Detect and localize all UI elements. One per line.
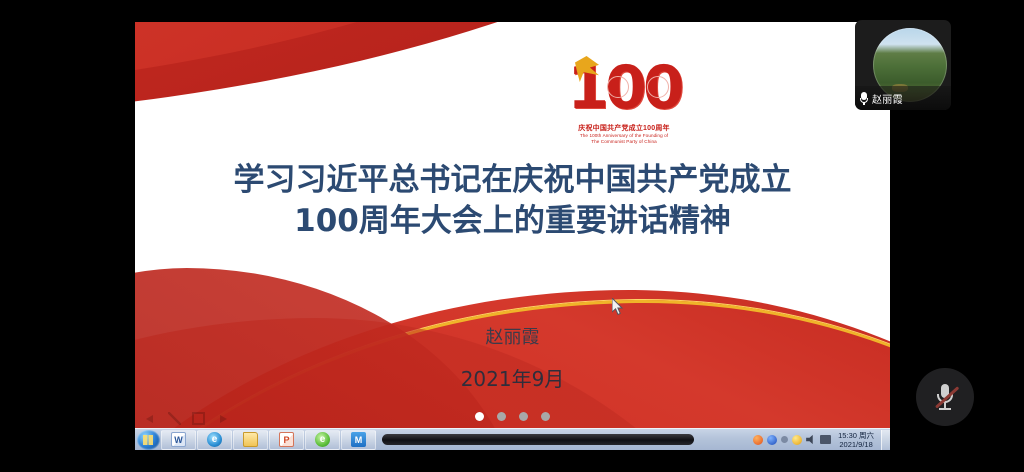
slide-title-line-2: 100周年大会上的重要讲话精神 (135, 201, 890, 242)
word-icon: W (171, 432, 186, 447)
slide-dot-4[interactable] (541, 412, 550, 421)
taskbar-item-powerpoint[interactable]: P (269, 430, 304, 450)
taskbar-item-file-explorer[interactable] (233, 430, 268, 450)
slide-dot-1[interactable] (475, 412, 484, 421)
slide-presenter-name: 赵丽霞 (135, 327, 890, 349)
logo-ring-1921-icon (607, 76, 629, 98)
network-icon[interactable] (820, 435, 831, 444)
participant-footer: 赵丽霞 (855, 86, 951, 110)
shared-screen-region[interactable]: 100 庆祝中国共产党成立100周年 The 100th Anniversary… (135, 22, 890, 450)
slide-dot-2[interactable] (497, 412, 506, 421)
logo-chinese-caption: 庆祝中国共产党成立100周年 (559, 124, 689, 133)
clock-date: 2021/9/18 (838, 440, 874, 449)
logo-mark: 100 (559, 52, 689, 124)
arrow-left-icon[interactable] (144, 412, 157, 425)
security-icon[interactable] (792, 435, 802, 445)
arrow-right-icon[interactable] (216, 412, 229, 425)
cpc-100-anniversary-logo: 100 庆祝中国共产党成立100周年 The 100th Anniversary… (559, 52, 689, 152)
mute-toggle-button[interactable] (916, 368, 974, 426)
presentation-slide[interactable]: 100 庆祝中国共产党成立100周年 The 100th Anniversary… (135, 22, 890, 442)
grid-icon[interactable] (192, 412, 205, 425)
conference-screen: 100 庆祝中国共产党成立100周年 The 100th Anniversary… (0, 0, 1024, 472)
windows-taskbar[interactable]: W e P e M (135, 428, 890, 450)
taskbar-clock[interactable]: 15:30 周六 2021/9/18 (835, 431, 877, 449)
powerpoint-icon: P (279, 432, 294, 447)
clock-time: 15:30 周六 (838, 431, 874, 440)
taskbar-item-browser-360[interactable]: e (305, 430, 340, 450)
start-button-icon[interactable] (137, 430, 160, 450)
browser-icon: e (315, 432, 330, 447)
logo-english-caption-line2: The Communist Party of China (559, 139, 689, 145)
slide-title-line-1: 学习习近平总书记在庆祝中国共产党成立 (234, 162, 792, 198)
qq-icon[interactable] (767, 435, 777, 445)
taskbar-item-word[interactable]: W (161, 430, 196, 450)
taskbar-item-internet-explorer[interactable]: e (197, 430, 232, 450)
slide-title: 学习习近平总书记在庆祝中国共产党成立 100周年大会上的重要讲话精神 (135, 160, 890, 242)
hidden-icons-icon[interactable] (781, 436, 788, 443)
folder-icon (243, 432, 258, 447)
slide-date: 2021年9月 (135, 367, 890, 391)
microphone-icon (860, 92, 868, 105)
logo-ring-2021-icon (647, 76, 669, 98)
microphone-muted-icon (936, 384, 954, 410)
system-tray[interactable]: 15:30 周六 2021/9/18 (753, 431, 879, 449)
slide-dot-3[interactable] (519, 412, 528, 421)
pen-icon[interactable] (168, 412, 181, 425)
meeting-app-icon: M (351, 432, 366, 447)
participant-name: 赵丽霞 (872, 91, 903, 106)
volume-icon[interactable] (806, 435, 816, 445)
show-desktop-button[interactable] (881, 430, 890, 450)
slide-nav-dots[interactable] (135, 412, 890, 421)
sogou-input-icon[interactable] (753, 435, 763, 445)
presenter-toolbar[interactable] (144, 412, 229, 425)
ie-icon: e (207, 432, 222, 447)
participant-video-tile[interactable]: 赵丽霞 (855, 20, 951, 110)
taskbar-active-window-bar[interactable] (382, 434, 694, 445)
taskbar-item-meeting-app[interactable]: M (341, 430, 376, 450)
